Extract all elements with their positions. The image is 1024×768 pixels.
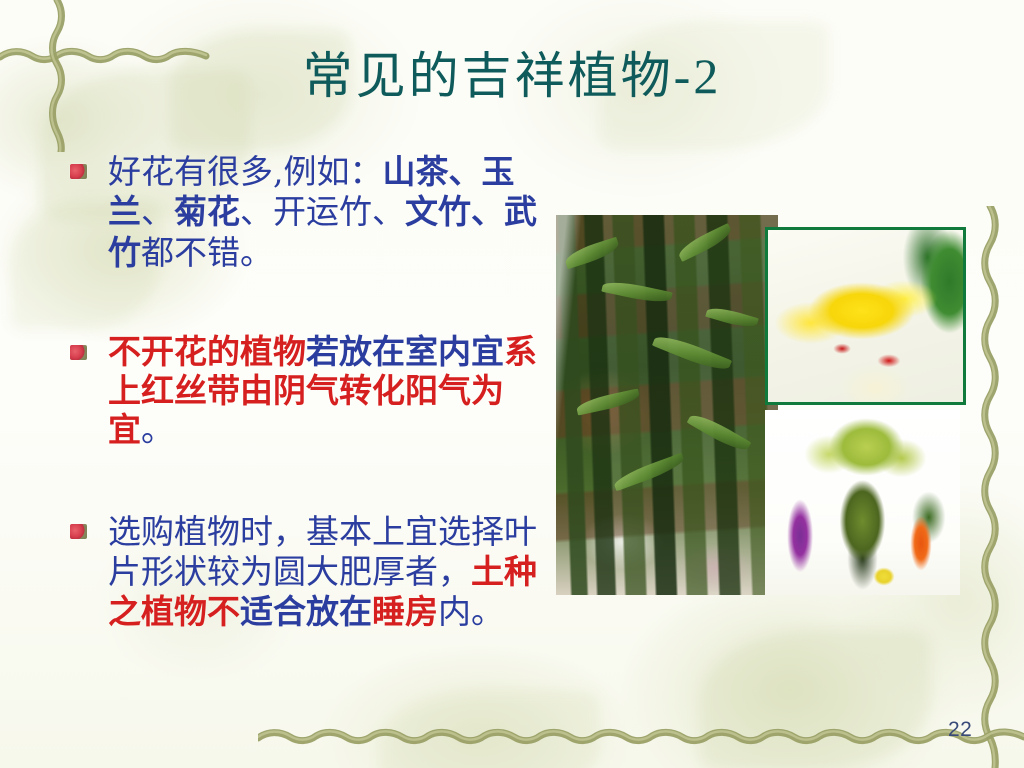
slide-canvas: 常见的吉祥植物-2 好花有很多,例如：山茶、玉兰、菊花、开运竹、文竹、武竹都不错… xyxy=(0,0,1024,768)
run-text: 山茶、 xyxy=(383,152,482,191)
flower-bullet-icon xyxy=(70,524,87,539)
bullet-3-text: 选购植物时，基本上宜选择叶片形状较为圆大肥厚者，土种之植物不适合放在睡房内。 xyxy=(108,512,548,633)
bullet-item-1: 好花有很多,例如：山茶、玉兰、菊花、开运竹、文竹、武竹都不错。 xyxy=(62,152,548,273)
leaf-watermark xyxy=(380,690,600,768)
bamboo-horizontal-line-bottom xyxy=(258,723,1024,751)
run-text: 菊花 xyxy=(174,192,240,231)
flower-bullet-icon xyxy=(70,164,87,179)
flower-bullet-icon xyxy=(70,345,87,360)
content-body: 好花有很多,例如：山茶、玉兰、菊花、开运竹、文竹、武竹都不错。 不开花的植物若放… xyxy=(62,152,548,658)
run-text: 睡房 xyxy=(372,592,438,631)
bullet-2-text: 不开花的植物若放在室内宜系上红丝带由阴气转化阳气为宜。 xyxy=(108,333,548,450)
page-number: 22 xyxy=(948,718,972,742)
bullet-item-2: 不开花的植物若放在室内宜系上红丝带由阴气转化阳气为宜。 xyxy=(62,333,548,450)
run-text: 、开运竹、 xyxy=(240,192,405,231)
run-text: 适合放在 xyxy=(240,592,372,631)
bamboo-vertical-line-right xyxy=(976,206,1006,768)
run-text: 。 xyxy=(141,410,174,449)
run-text: 不开花的植物 xyxy=(108,332,306,371)
leaf-watermark xyxy=(700,630,930,768)
run-text: 内。 xyxy=(438,592,504,631)
run-text: 、 xyxy=(141,192,174,231)
yellow-orchid-photo xyxy=(765,227,966,405)
bullet-item-3: 选购植物时，基本上宜选择叶片形状较为圆大肥厚者，土种之植物不适合放在睡房内。 xyxy=(62,512,548,633)
run-text: 都不错。 xyxy=(141,233,273,272)
page-title: 常见的吉祥植物-2 xyxy=(0,48,1024,104)
run-text: 好花有很多,例如： xyxy=(108,152,383,191)
lucky-bamboo-vases-photo xyxy=(765,410,960,595)
run-text: 若放在室内宜 xyxy=(306,332,504,371)
bamboo-stalks-photo xyxy=(556,215,778,595)
bullet-1-text: 好花有很多,例如：山茶、玉兰、菊花、开运竹、文竹、武竹都不错。 xyxy=(108,152,548,273)
